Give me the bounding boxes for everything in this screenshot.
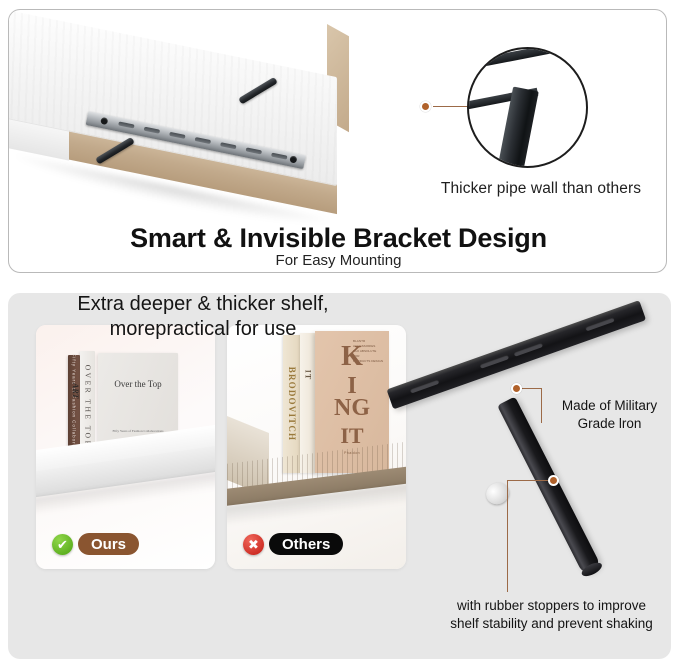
- rubber-stoppers-caption-line1: with rubber stoppers to improve: [424, 597, 679, 615]
- bracket-tube-end-cap: [580, 560, 604, 579]
- ours-book-art-label: ART: [71, 383, 80, 399]
- bracket-plate-slot-1: [410, 379, 440, 394]
- rubber-stopper-ring: [482, 479, 512, 508]
- ours-book-title: Over the Top: [98, 379, 178, 389]
- badge-ours: ✔ Ours: [52, 533, 139, 555]
- rubber-stoppers-caption-line2: shelf stability and prevent shaking: [424, 615, 679, 633]
- stoppers-leader-line-horizontal: [507, 480, 554, 481]
- page-title: Smart & Invisible Bracket Design: [9, 223, 667, 254]
- comparison-caption-line2: morepractical for use: [12, 317, 394, 342]
- badge-others-label: Others: [269, 533, 343, 555]
- check-circle-icon: ✔: [52, 534, 73, 555]
- rail-slot-3: [169, 132, 185, 139]
- rail-slot-2: [144, 127, 160, 134]
- others-book-spine-brodovitch: BRODOVITCH: [283, 335, 300, 473]
- military-grade-caption-line1: Made of Military: [540, 397, 679, 415]
- rubber-stoppers-caption: with rubber stoppers to improve shelf st…: [424, 597, 679, 633]
- bracket-plate-slot-4: [585, 317, 615, 332]
- smart-bracket-design-panel: Thicker pipe wall than others Smart & In…: [8, 9, 667, 273]
- rail-hole-left: [100, 117, 108, 125]
- others-book-spine-it-text: IT: [304, 370, 313, 380]
- t-bracket-product-image: [396, 293, 671, 583]
- rail-slot-1: [118, 121, 134, 128]
- floating-shelf-product-image: [8, 9, 359, 219]
- comparison-card-ours: Fifty Years of Fashion Collaborations OV…: [36, 325, 215, 569]
- military-grade-caption: Made of Military Grade lron: [540, 397, 679, 433]
- material-callout-dot: [511, 383, 522, 394]
- zoom-callout-dot: [420, 101, 431, 112]
- stoppers-callout-dot: [548, 475, 559, 486]
- thicker-pipe-wall-caption: Thicker pipe wall than others: [421, 180, 661, 198]
- military-grade-caption-line2: Grade lron: [540, 415, 679, 433]
- others-book-spine-it: IT: [300, 333, 316, 473]
- comparison-card-others: BRODOVITCH IT BLANTR ACCESSORIESTAO ABSO…: [227, 325, 406, 569]
- rail-slot-7: [271, 153, 287, 160]
- badge-ours-label: Ours: [78, 533, 139, 555]
- comparison-caption: Extra deeper & thicker shelf, morepracti…: [12, 292, 394, 342]
- rail-slot-5: [220, 142, 236, 149]
- others-book-letter-ng: NG: [315, 395, 389, 422]
- badge-others: ✖ Others: [243, 533, 343, 555]
- rail-hole-right: [289, 155, 297, 163]
- others-book-spine-brodovitch-text: BRODOVITCH: [287, 367, 297, 442]
- ours-book-spine-light-text: OVER THE TOP: [83, 365, 92, 448]
- comparison-caption-line1: Extra deeper & thicker shelf,: [12, 292, 394, 317]
- stoppers-leader-line-vertical: [507, 480, 508, 592]
- others-book-letter-k: K: [315, 341, 389, 373]
- bracket-plate-slot-2: [479, 354, 509, 369]
- page-subtitle: For Easy Mounting: [9, 252, 667, 269]
- zoom-inset-plate-bar: [467, 47, 588, 74]
- pipe-wall-zoom-inset: [467, 47, 588, 168]
- rail-slot-6: [246, 147, 262, 154]
- zoom-leader-line: [433, 106, 469, 107]
- x-circle-icon: ✖: [243, 534, 264, 555]
- rail-slot-4: [195, 137, 211, 144]
- bracket-plate-slot-3: [513, 342, 543, 357]
